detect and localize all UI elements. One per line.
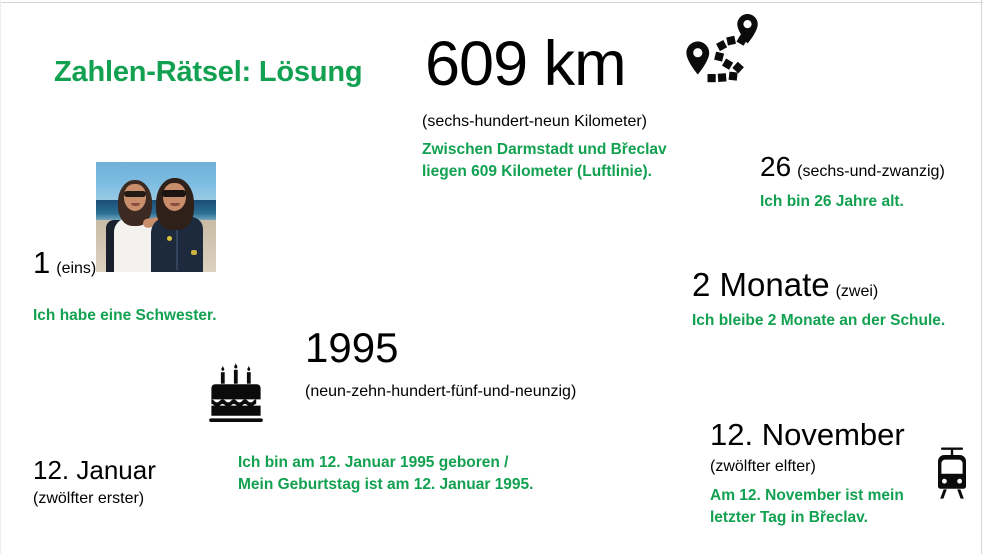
birthdate-spelled: (zwölfter erster) (33, 490, 144, 508)
sister-number: 1 (33, 247, 50, 278)
lastday-spelled: (zwölfter elfter) (710, 458, 816, 476)
photo-person-left-face (124, 184, 146, 211)
photo-person-right-logo (167, 236, 172, 241)
birthday-cake-icon (207, 361, 265, 430)
sister-number-group: 1 (eins) (33, 247, 96, 278)
birthdate-number: 12. Januar (33, 455, 156, 486)
birthyear-number: 1995 (305, 327, 398, 369)
slide-canvas: Zahlen-Rätsel: Lösung 609 km (0, 0, 983, 554)
distance-sentence-line1: Zwischen Darmstadt und Břeclav (422, 139, 667, 161)
lastday-sentence-line2: letzter Tag in Břeclav. (710, 507, 868, 529)
distance-number: 609 km (425, 29, 626, 99)
distance-sentence-line2: liegen 609 Kilometer (Luftlinie). (422, 161, 652, 183)
months-spelled: (zwei) (836, 283, 879, 301)
photo-person-right-sunglasses (162, 190, 186, 197)
sister-spelled: (eins) (56, 260, 96, 278)
birthyear-sentence-line2: Mein Geburtstag ist am 12. Januar 1995. (238, 474, 533, 496)
slide-frame-top-border (0, 2, 983, 3)
age-number-group: 26 (sechs-und-zwanzig) (760, 153, 945, 181)
photo-person-right-zipper (176, 224, 178, 270)
route-map-pins-icon (684, 12, 776, 107)
slide-frame-right-border (981, 0, 982, 554)
photo-person-left-sunglasses (124, 191, 146, 197)
photo-person-right-face (163, 183, 186, 211)
distance-spelled: (sechs-hundert-neun Kilometer) (422, 113, 647, 131)
months-number: 2 Monate (692, 268, 830, 301)
birthyear-sentence-line1: Ich bin am 12. Januar 1995 geboren / (238, 452, 509, 474)
photo-person-right-badge (191, 250, 197, 255)
sister-photo (96, 162, 216, 272)
distance-number-group: 609 km (425, 33, 626, 96)
months-number-group: 2 Monate (zwei) (692, 268, 878, 301)
age-number: 26 (760, 153, 791, 181)
slide-frame-left-border (0, 0, 1, 554)
age-spelled: (sechs-und-zwanzig) (797, 163, 945, 181)
age-sentence: Ich bin 26 Jahre alt. (760, 191, 904, 213)
page-title: Zahlen-Rätsel: Lösung (54, 56, 362, 89)
lastday-sentence-line1: Am 12. November ist mein (710, 485, 904, 507)
tram-icon (932, 446, 972, 505)
months-sentence: Ich bleibe 2 Monate an der Schule. (692, 310, 945, 332)
photo-person-right-smile (170, 203, 180, 206)
sister-sentence: Ich habe eine Schwester. (33, 305, 217, 327)
birthyear-spelled: (neun-zehn-hundert-fünf-und-neunzig) (305, 383, 576, 401)
lastday-number: 12. November (710, 417, 905, 453)
